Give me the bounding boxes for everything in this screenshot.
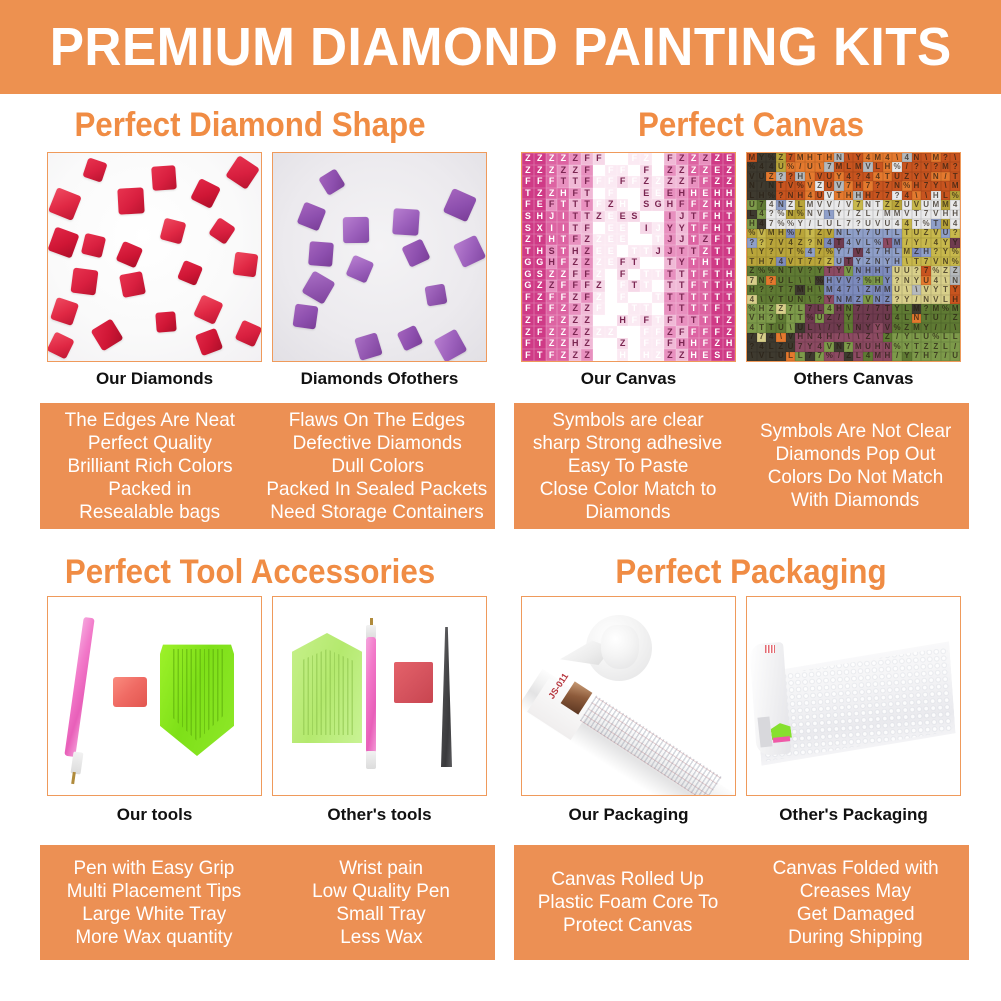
panel-line: Get Damaged xyxy=(796,903,914,926)
panel-line: Small Tray xyxy=(337,903,426,926)
comparison-panel-tool-accessories: Pen with Easy Grip Multi Placement Tips … xyxy=(40,845,495,960)
panel-line: Diamonds xyxy=(585,501,670,524)
panel-line: Multi Placement Tips xyxy=(66,880,241,903)
image-card-others-canvas: MY%Z7MHTHN\Y4M4\4N\M?\%44U%/U\7MLMVLH%/?… xyxy=(746,152,961,362)
panel-line: Flaws On The Edges xyxy=(289,409,465,432)
muddy-multicolor-grid-canvas-photo: MY%Z7MHTHN\Y4M4\4N\M?\%44U%/U\7MLMVLH%/?… xyxy=(747,153,960,361)
panel-line: Resealable bags xyxy=(79,501,220,524)
caption-our-tools: Our tools xyxy=(47,805,262,825)
panel-line: sharp Strong adhesive xyxy=(533,432,722,455)
panel-line: The Edges Are Neat xyxy=(65,409,235,432)
white-tube-packaging-photo: JS-011 xyxy=(522,597,735,795)
panel-line: Easy To Paste xyxy=(567,455,688,478)
panel-line: Need Storage Containers xyxy=(270,501,483,524)
panel-column-others: Flaws On The Edges Defective Diamonds Du… xyxy=(259,403,495,529)
panel-line: Diamonds Pop Out xyxy=(775,443,935,466)
panel-column-ours: The Edges Are Neat Perfect Quality Brill… xyxy=(40,403,259,529)
panel-line: Large White Tray xyxy=(82,903,226,926)
section-title-tool-accessories: Perfect Tool Accessories xyxy=(20,553,480,592)
pink-pen-wax-green-tray-photo xyxy=(48,597,261,795)
panel-line: Wrist pain xyxy=(339,857,423,880)
panel-line: Colors Do Not Match xyxy=(767,466,943,489)
panel-line: Brilliant Rich Colors xyxy=(67,455,232,478)
bubble-mailer-packaging-photo xyxy=(747,597,960,795)
page-title: PREMIUM DIAMOND PAINTING KITS xyxy=(49,16,951,78)
panel-line: Pen with Easy Grip xyxy=(73,857,234,880)
panel-line: More Wax quantity xyxy=(75,926,232,949)
panel-line: Less Wax xyxy=(340,926,422,949)
comparison-panel-canvas: Symbols are clear sharp Strong adhesive … xyxy=(514,403,969,529)
image-card-our-packaging: JS-011 xyxy=(521,596,736,796)
red-square-diamonds-photo xyxy=(48,153,261,361)
panel-line: Creases May xyxy=(800,880,911,903)
infographic-page: PREMIUM DIAMOND PAINTING KITS Perfect Di… xyxy=(0,0,1001,1001)
image-card-our-tools xyxy=(47,596,262,796)
image-card-our-canvas: ZZZZZFFFFFZZFZZZZEZZZZZFFFFFFZZZZZEZFFFT… xyxy=(521,152,736,362)
caption-others-packaging: Other's Packaging xyxy=(746,805,961,825)
panel-line: Symbols Are Not Clear xyxy=(760,420,951,443)
panel-line: Dull Colors xyxy=(331,455,423,478)
image-card-our-diamonds xyxy=(47,152,262,362)
panel-line: Close Color Match to xyxy=(539,478,716,501)
caption-our-canvas: Our Canvas xyxy=(521,369,736,389)
panel-line: Canvas Folded with xyxy=(772,857,938,880)
panel-line: Defective Diamonds xyxy=(293,432,462,455)
section-title-packaging: Perfect Packaging xyxy=(521,553,981,592)
panel-line: Low Quality Pen xyxy=(312,880,450,903)
image-card-others-packaging xyxy=(746,596,961,796)
comparison-panel-packaging: Canvas Rolled Up Plastic Foam Core To Pr… xyxy=(514,845,969,960)
panel-line: With Diamonds xyxy=(791,489,919,512)
panel-line: During Shipping xyxy=(788,926,923,949)
panel-column-others: Symbols Are Not Clear Diamonds Pop Out C… xyxy=(742,403,970,529)
image-card-other-tools xyxy=(272,596,487,796)
caption-other-diamonds: Diamonds Ofothers xyxy=(272,369,487,389)
panel-line: Symbols are clear xyxy=(552,409,703,432)
caption-others-canvas: Others Canvas xyxy=(746,369,961,389)
caption-our-packaging: Our Packaging xyxy=(521,805,736,825)
caption-our-diamonds: Our Diamonds xyxy=(47,369,262,389)
section-title-diamond-shape: Perfect Diamond Shape xyxy=(20,106,480,145)
section-title-canvas: Perfect Canvas xyxy=(521,106,981,145)
panel-column-others: Canvas Folded with Creases May Get Damag… xyxy=(742,845,970,960)
panel-line: Canvas Rolled Up xyxy=(552,868,704,891)
page-header-banner: PREMIUM DIAMOND PAINTING KITS xyxy=(0,0,1001,94)
pink-symbol-grid-canvas-photo: ZZZZZFFFFFZZFZZZZEZZZZZFFFFFFZZZZZEZFFFT… xyxy=(522,153,735,361)
caption-other-tools: Other's tools xyxy=(272,805,487,825)
image-card-other-diamonds xyxy=(272,152,487,362)
panel-column-others: Wrist pain Low Quality Pen Small Tray Le… xyxy=(268,845,496,960)
panel-column-ours: Pen with Easy Grip Multi Placement Tips … xyxy=(40,845,268,960)
panel-line: Plastic Foam Core To xyxy=(538,891,718,914)
comparison-panel-diamond-shape: The Edges Are Neat Perfect Quality Brill… xyxy=(40,403,495,529)
panel-line: Packed In Sealed Packets xyxy=(267,478,488,501)
panel-line: Protect Canvas xyxy=(563,914,692,937)
panel-column-ours: Canvas Rolled Up Plastic Foam Core To Pr… xyxy=(514,845,742,960)
panel-column-ours: Symbols are clear sharp Strong adhesive … xyxy=(514,403,742,529)
panel-line: Packed in xyxy=(108,478,191,501)
panel-line: Perfect Quality xyxy=(88,432,212,455)
purple-square-diamonds-photo xyxy=(273,153,486,361)
green-tray-pen-wax-tweezers-photo xyxy=(273,597,486,795)
